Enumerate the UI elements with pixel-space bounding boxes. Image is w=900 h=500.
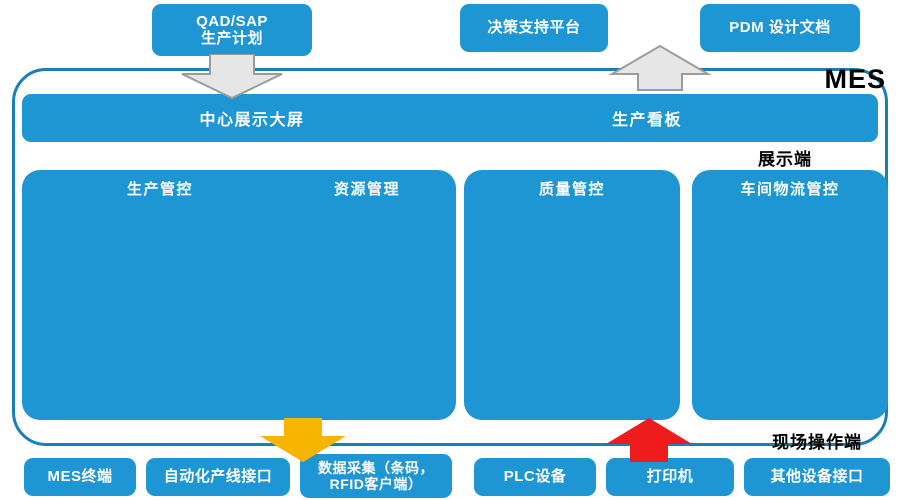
device-plc[interactable]: PLC设备 [474, 458, 596, 496]
top-system-qad-sap[interactable]: QAD/SAP 生产计划 [152, 4, 312, 56]
arrow-down-yellow-icon [256, 418, 350, 464]
field-tier-label: 现场操作端 [772, 428, 862, 453]
top-system-qad-sap-line2: 生产计划 [201, 30, 263, 47]
top-system-decision-platform-label: 决策支持平台 [487, 19, 580, 36]
banner-center-screen-label: 中心展示大屏 [112, 94, 392, 142]
mes-title: MES [824, 64, 886, 95]
display-banner[interactable]: 中心展示大屏 生产看板 [22, 94, 878, 142]
arrow-up-gray-icon [608, 44, 712, 92]
device-mes-terminal-label: MES终端 [47, 468, 112, 485]
device-other-equipment-interface[interactable]: 其他设备接口 [744, 458, 890, 496]
panel-group-production-resource [22, 170, 456, 420]
arrow-down-gray-icon [178, 54, 286, 100]
panel-title-production-control: 生产管控 [40, 178, 280, 199]
device-printer-label: 打印机 [647, 468, 694, 485]
arrow-up-red-icon [602, 418, 696, 464]
device-other-equipment-interface-label: 其他设备接口 [770, 468, 863, 485]
panel-workshop-logistics-control [692, 170, 888, 420]
top-system-decision-platform[interactable]: 决策支持平台 [460, 4, 608, 52]
device-plc-label: PLC设备 [504, 468, 567, 485]
top-system-pdm-label: PDM 设计文档 [729, 19, 831, 36]
device-mes-terminal[interactable]: MES终端 [24, 458, 136, 496]
device-data-acquisition-line2: RFID客户端） [330, 476, 423, 492]
banner-production-board-label: 生产看板 [522, 94, 772, 142]
diagram-canvas: QAD/SAP 生产计划 决策支持平台 PDM 设计文档 MES 中心展示大屏 … [0, 0, 900, 500]
panel-title-workshop-logistics: 车间物流管控 [692, 178, 888, 199]
device-automated-line-interface-label: 自动化产线接口 [164, 468, 273, 485]
panel-title-resource-management: 资源管理 [292, 178, 442, 199]
display-tier-label: 展示端 [758, 145, 812, 170]
top-system-qad-sap-line1: QAD/SAP [196, 13, 268, 30]
top-system-pdm[interactable]: PDM 设计文档 [700, 4, 860, 52]
panel-quality-control [464, 170, 680, 420]
panel-title-quality-control: 质量管控 [464, 178, 680, 199]
